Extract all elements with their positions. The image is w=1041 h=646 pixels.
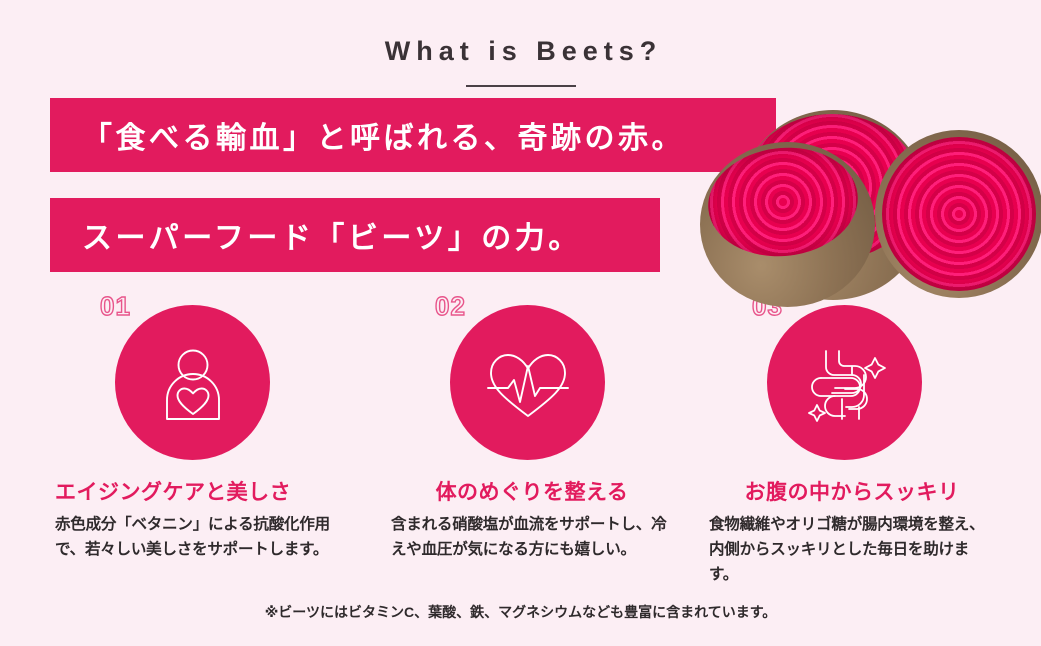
- feature-columns: 01 エイジングケアと美しさ 赤色成分「ベタニン」による抗酸化作用で、若々しい美…: [0, 288, 1041, 588]
- feature-body-02: 含まれる硝酸塩が血流をサポートし、冷えや血圧が気になる方にも嬉しい。: [391, 512, 667, 562]
- feature-icon-circle-01: [115, 305, 270, 460]
- beet-right: [875, 130, 1041, 298]
- feature-number-02: 02: [435, 291, 466, 322]
- feature-body-01: 赤色成分「ベタニン」による抗酸化作用で、若々しい美しさをサポートします。: [55, 512, 331, 562]
- beet-flesh: [882, 137, 1036, 291]
- feature-heading-02: 体のめぐりを整える: [387, 476, 677, 506]
- beet-left: [700, 142, 875, 307]
- beetroot-halves-photo: [700, 110, 1041, 310]
- page-title: What is Beets?: [0, 36, 1041, 67]
- feature-body-03: 食物繊維やオリゴ糖が腸内環境を整え、内側からスッキリとした毎日を助けます。: [709, 512, 985, 587]
- banner-primary: 「食べる輸血」と呼ばれる、奇跡の赤。: [50, 98, 776, 172]
- footnote-text: ※ビーツにはビタミンC、葉酸、鉄、マグネシウムなども豊富に含まれています。: [0, 602, 1041, 622]
- infographic-root: What is Beets? 「食べる輸血」と呼ばれる、奇跡の赤。 スーパーフー…: [0, 0, 1041, 646]
- banner-primary-text: 「食べる輸血」と呼ばれる、奇跡の赤。: [82, 98, 685, 172]
- person-heart-icon: [150, 340, 236, 426]
- banner-secondary: スーパーフード「ビーツ」の力。: [50, 198, 660, 272]
- feature-heading-01: エイジングケアと美しさ: [47, 476, 345, 506]
- feature-heading-03: お腹の中からスッキリ: [707, 476, 997, 506]
- feature-number-01: 01: [100, 291, 131, 322]
- intestine-sparkle-icon: [795, 333, 895, 433]
- title-underline-divider: [466, 85, 576, 87]
- banner-secondary-text: スーパーフード「ビーツ」の力。: [82, 198, 582, 272]
- feature-icon-circle-03: [767, 305, 922, 460]
- sparkle-icon: [809, 405, 825, 421]
- feature-icon-circle-02: [450, 305, 605, 460]
- sparkle-icon: [865, 358, 885, 378]
- heart-pulse-icon: [482, 340, 574, 426]
